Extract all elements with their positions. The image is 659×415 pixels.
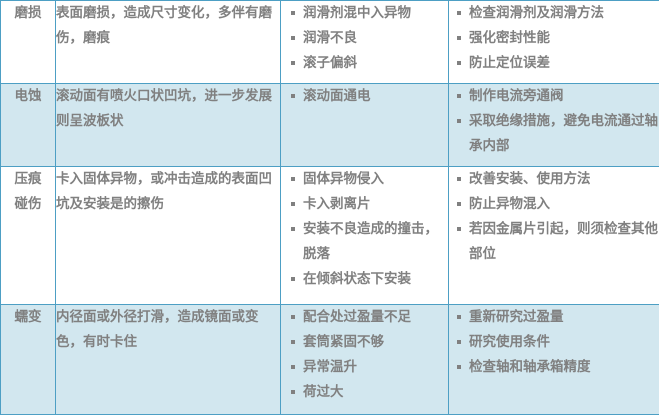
description-cell: 滚动面有喷火口状凹坑，进一步发展则呈波板状 xyxy=(56,84,281,167)
action-item: 若因金属片引起，则须检查其他部位 xyxy=(469,221,658,262)
action-item: 改善安装、使用方法 xyxy=(469,171,591,187)
cause-cell-list: 固体异物侵入卡入剥离片安装不良造成的撞击，脱落在倾斜状态下安装 xyxy=(289,167,448,292)
list-item: 防止异物混入 xyxy=(455,192,659,217)
table-row: 磨损表面磨损，造成尺寸变化，多伴有磨伤，磨痕润滑剂混中入异物润滑不良滚子偏斜检查… xyxy=(1,1,659,84)
action-item: 研究使用条件 xyxy=(469,334,550,350)
table-body: 磨损表面磨损，造成尺寸变化，多伴有磨伤，磨痕润滑剂混中入异物润滑不良滚子偏斜检查… xyxy=(1,1,659,415)
description-cell: 内径面或外径打滑，造成镜面或变色，有时卡住 xyxy=(56,304,281,414)
bullet-square-icon xyxy=(291,227,295,231)
bullet-square-icon xyxy=(291,202,295,206)
action-item: 采取绝缘措施，避免电流通过轴承内部 xyxy=(469,113,658,154)
cause-cell-list: 配合处过盈量不足套筒紧固不够异常温升荷过大 xyxy=(289,305,448,405)
failure-mode-label: 磨损 xyxy=(1,1,55,26)
failure-mode-label: 蠕变 xyxy=(1,305,55,330)
description-cell: 卡入固体异物，或冲击造成的表面凹坑及安装是的擦伤 xyxy=(56,167,281,305)
list-item: 卡入剥离片 xyxy=(289,192,448,217)
bullet-square-icon xyxy=(457,119,461,123)
bullet-square-icon xyxy=(457,11,461,15)
bullet-square-icon xyxy=(291,177,295,181)
cause-cell: 润滑剂混中入异物润滑不良滚子偏斜 xyxy=(281,1,449,84)
cause-item: 异常温升 xyxy=(303,359,357,375)
failure-mode-label: 压痕 xyxy=(1,167,55,192)
list-item: 改善安装、使用方法 xyxy=(455,167,659,192)
list-item: 安装不良造成的撞击，脱落 xyxy=(289,217,448,267)
bullet-square-icon xyxy=(457,315,461,319)
list-item: 滚动面通电 xyxy=(289,84,448,109)
bullet-square-icon xyxy=(457,61,461,65)
failure-mode-cell: 蠕变 xyxy=(1,304,56,414)
action-cell-list: 改善安装、使用方法防止异物混入若因金属片引起，则须检查其他部位 xyxy=(455,167,659,267)
cause-item: 固体异物侵入 xyxy=(303,171,384,187)
table-row: 压痕碰伤卡入固体异物，或冲击造成的表面凹坑及安装是的擦伤固体异物侵入卡入剥离片安… xyxy=(1,167,659,305)
action-cell: 制作电流旁通阀采取绝缘措施，避免电流通过轴承内部 xyxy=(449,84,659,167)
list-item: 滚子偏斜 xyxy=(289,51,448,76)
list-item: 异常温升 xyxy=(289,355,448,380)
bullet-square-icon xyxy=(457,227,461,231)
action-cell: 改善安装、使用方法防止异物混入若因金属片引起，则须检查其他部位 xyxy=(449,167,659,305)
cause-item: 润滑剂混中入异物 xyxy=(303,5,411,21)
action-cell: 重新研究过盈量研究使用条件检查轴和轴承箱精度 xyxy=(449,304,659,414)
bullet-square-icon xyxy=(291,11,295,15)
cause-item: 在倾斜状态下安装 xyxy=(303,271,411,287)
cause-item: 滚子偏斜 xyxy=(303,55,357,71)
cause-item: 润滑不良 xyxy=(303,30,357,46)
bullet-square-icon xyxy=(291,390,295,394)
bullet-square-icon xyxy=(457,94,461,98)
list-item: 采取绝缘措施，避免电流通过轴承内部 xyxy=(455,109,659,159)
action-item: 防止异物混入 xyxy=(469,196,550,212)
list-item: 研究使用条件 xyxy=(455,330,659,355)
cause-cell-list: 润滑剂混中入异物润滑不良滚子偏斜 xyxy=(289,1,448,76)
action-item: 强化密封性能 xyxy=(469,30,550,46)
list-item: 固体异物侵入 xyxy=(289,167,448,192)
action-cell: 检查润滑剂及润滑方法强化密封性能防止定位误差 xyxy=(449,1,659,84)
action-cell-list: 制作电流旁通阀采取绝缘措施，避免电流通过轴承内部 xyxy=(455,84,659,159)
table-row: 蠕变内径面或外径打滑，造成镜面或变色，有时卡住配合处过盈量不足套筒紧固不够异常温… xyxy=(1,304,659,414)
list-item: 若因金属片引起，则须检查其他部位 xyxy=(455,217,659,267)
action-item: 重新研究过盈量 xyxy=(469,309,564,325)
bullet-square-icon xyxy=(291,277,295,281)
list-item: 配合处过盈量不足 xyxy=(289,305,448,330)
list-item: 检查轴和轴承箱精度 xyxy=(455,355,659,380)
cause-item: 套筒紧固不够 xyxy=(303,334,384,350)
cause-cell-list: 滚动面通电 xyxy=(289,84,448,109)
cause-cell: 配合处过盈量不足套筒紧固不够异常温升荷过大 xyxy=(281,304,449,414)
cause-item: 配合处过盈量不足 xyxy=(303,309,411,325)
bullet-square-icon xyxy=(291,315,295,319)
list-item: 检查润滑剂及润滑方法 xyxy=(455,1,659,26)
failure-mode-cell: 电蚀 xyxy=(1,84,56,167)
list-item: 防止定位误差 xyxy=(455,51,659,76)
bullet-square-icon xyxy=(457,340,461,344)
bullet-square-icon xyxy=(291,365,295,369)
bullet-square-icon xyxy=(291,340,295,344)
description-cell: 表面磨损，造成尺寸变化，多伴有磨伤，磨痕 xyxy=(56,1,281,84)
failure-mode-cell: 磨损 xyxy=(1,1,56,84)
bullet-square-icon xyxy=(291,94,295,98)
list-item: 荷过大 xyxy=(289,380,448,405)
list-item: 强化密封性能 xyxy=(455,26,659,51)
failure-mode-cell: 压痕碰伤 xyxy=(1,167,56,305)
action-item: 检查轴和轴承箱精度 xyxy=(469,359,591,375)
list-item: 在倾斜状态下安装 xyxy=(289,267,448,292)
bullet-square-icon xyxy=(457,202,461,206)
cause-cell: 固体异物侵入卡入剥离片安装不良造成的撞击，脱落在倾斜状态下安装 xyxy=(281,167,449,305)
action-cell-list: 重新研究过盈量研究使用条件检查轴和轴承箱精度 xyxy=(455,305,659,380)
failure-mode-label: 电蚀 xyxy=(1,84,55,109)
bullet-square-icon xyxy=(291,61,295,65)
failure-mode-label: 碰伤 xyxy=(1,192,55,217)
list-item: 制作电流旁通阀 xyxy=(455,84,659,109)
cause-item: 卡入剥离片 xyxy=(303,196,371,212)
list-item: 重新研究过盈量 xyxy=(455,305,659,330)
cause-cell: 滚动面通电 xyxy=(281,84,449,167)
table-row: 电蚀滚动面有喷火口状凹坑，进一步发展则呈波板状滚动面通电制作电流旁通阀采取绝缘措… xyxy=(1,84,659,167)
cause-item: 安装不良造成的撞击，脱落 xyxy=(303,221,438,262)
bullet-square-icon xyxy=(457,177,461,181)
list-item: 润滑剂混中入异物 xyxy=(289,1,448,26)
action-cell-list: 检查润滑剂及润滑方法强化密封性能防止定位误差 xyxy=(455,1,659,76)
bearing-failure-table: 磨损表面磨损，造成尺寸变化，多伴有磨伤，磨痕润滑剂混中入异物润滑不良滚子偏斜检查… xyxy=(0,0,659,415)
cause-item: 滚动面通电 xyxy=(303,88,371,104)
action-item: 制作电流旁通阀 xyxy=(469,88,564,104)
cause-item: 荷过大 xyxy=(303,384,344,400)
bullet-square-icon xyxy=(457,36,461,40)
action-item: 防止定位误差 xyxy=(469,55,550,71)
action-item: 检查润滑剂及润滑方法 xyxy=(469,5,604,21)
list-item: 润滑不良 xyxy=(289,26,448,51)
list-item: 套筒紧固不够 xyxy=(289,330,448,355)
bullet-square-icon xyxy=(291,36,295,40)
bullet-square-icon xyxy=(457,365,461,369)
